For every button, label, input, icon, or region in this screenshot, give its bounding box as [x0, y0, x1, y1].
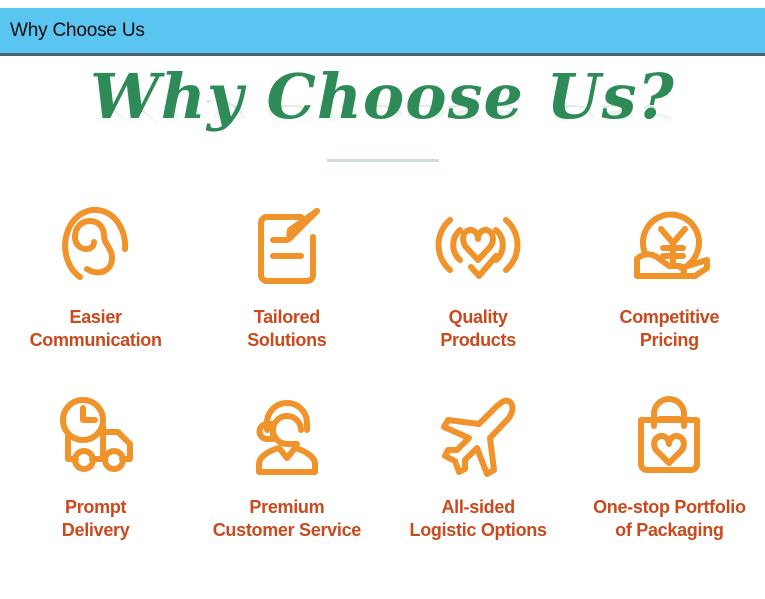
page-title: Why Choose Us? [0, 64, 765, 130]
feature-quality-products[interactable]: Quality Products [383, 190, 574, 352]
hero-divider [327, 159, 439, 162]
features-grid: Easier Communication Tailored Solutions [0, 190, 765, 542]
features-row-2: Prompt Delivery Premium Customer Service… [0, 380, 765, 542]
window-titlebar: Why Choose Us [0, 8, 765, 53]
shopping-bag-heart-icon [619, 380, 719, 488]
feature-prompt-delivery[interactable]: Prompt Delivery [0, 380, 191, 542]
feature-tailored-solutions[interactable]: Tailored Solutions [191, 190, 382, 352]
feature-label: Premium Customer Service [213, 496, 361, 542]
headset-support-agent-icon [237, 380, 337, 488]
hero-section: Why Choose Us? Why Choose Us? [0, 56, 765, 176]
feature-easier-communication[interactable]: Easier Communication [0, 190, 191, 352]
feature-label: Tailored Solutions [247, 306, 326, 352]
feature-label: Prompt Delivery [62, 496, 130, 542]
feature-all-sided-logistic-options[interactable]: All-sided Logistic Options [383, 380, 574, 542]
feature-label: One-stop Portfolio of Packaging [593, 496, 746, 542]
feature-label: Quality Products [440, 306, 516, 352]
heart-signal-check-icon [428, 190, 528, 298]
delivery-truck-clock-icon [46, 380, 146, 488]
window-title: Why Choose Us [10, 20, 145, 42]
feature-label: Easier Communication [30, 306, 162, 352]
features-row-1: Easier Communication Tailored Solutions [0, 190, 765, 352]
feature-premium-customer-service[interactable]: Premium Customer Service [191, 380, 382, 542]
feature-label: Competitive Pricing [620, 306, 720, 352]
ear-in-circle-icon [46, 190, 146, 298]
airplane-icon [428, 380, 528, 488]
feature-one-stop-portfolio-of-packaging[interactable]: One-stop Portfolio of Packaging [574, 380, 765, 542]
hand-holding-yen-coin-icon [619, 190, 719, 298]
feature-competitive-pricing[interactable]: Competitive Pricing [574, 190, 765, 352]
document-with-pencil-icon [237, 190, 337, 298]
feature-label: All-sided Logistic Options [410, 496, 547, 542]
